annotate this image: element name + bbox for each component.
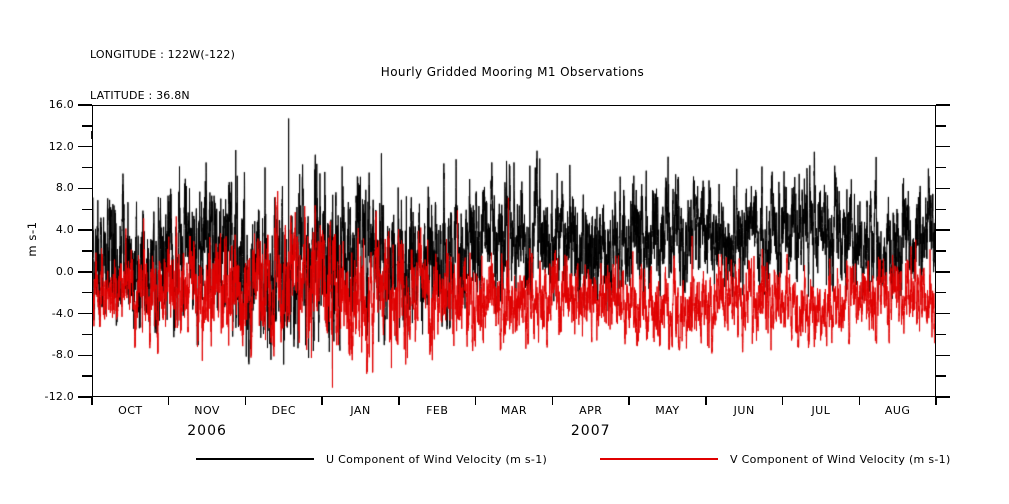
y-tick-minor-right [936, 292, 946, 293]
chart-title-text: Hourly Gridded Mooring M1 Observations [381, 65, 644, 79]
x-tick [552, 397, 553, 405]
x-tick-label-may: MAY [655, 404, 679, 417]
y-tick-major-right [936, 188, 950, 189]
y-tick-minor [82, 125, 92, 126]
x-tick-label-oct: OCT [118, 404, 143, 417]
plot-inner [93, 106, 935, 396]
y-tick-label: 0.0 [0, 265, 74, 278]
plot-area [92, 105, 936, 397]
x-tick-label-nov: NOV [194, 404, 220, 417]
y-tick-major-right [936, 271, 950, 272]
y-tick-major [78, 229, 92, 230]
x-tick-label-jan: JAN [350, 404, 370, 417]
y-tick-label: 8.0 [0, 181, 74, 194]
y-tick-major [78, 355, 92, 356]
y-tick-minor [82, 250, 92, 251]
y-tick-major-right [936, 355, 950, 356]
y-tick-minor-right [936, 125, 946, 126]
x-year-label-2007: 2007 [571, 423, 611, 439]
x-tick-label-aug: AUG [885, 404, 911, 417]
x-tick [705, 397, 706, 405]
y-tick-major [78, 188, 92, 189]
longitude-text: LONGITUDE : 122W(-122) [90, 48, 235, 62]
y-tick-major [78, 313, 92, 314]
y-tick-major-right [936, 313, 950, 314]
x-year-label-2006: 2006 [187, 423, 227, 439]
x-tick [475, 397, 476, 405]
y-tick-minor-right [936, 167, 946, 168]
x-tick-label-dec: DEC [272, 404, 297, 417]
x-tick [168, 397, 169, 405]
y-tick-minor-right [936, 250, 946, 251]
timeseries-canvas [93, 106, 936, 397]
y-tick-major [78, 271, 92, 272]
y-tick-label: -4.0 [0, 307, 74, 320]
y-tick-label: -8.0 [0, 348, 74, 361]
x-tick [91, 397, 92, 405]
x-tick [398, 397, 399, 405]
x-tick-label-jul: JUL [811, 404, 830, 417]
legend-label-u: U Component of Wind Velocity (m s-1) [326, 453, 547, 466]
y-tick-minor [82, 292, 92, 293]
y-tick-label: 4.0 [0, 223, 74, 236]
y-tick-minor [82, 375, 92, 376]
legend-entry-v[interactable]: V Component of Wind Velocity (m s-1) [600, 449, 951, 469]
y-tick-label: -12.0 [0, 390, 74, 403]
y-tick-major [78, 396, 92, 397]
y-tick-major-right [936, 229, 950, 230]
x-tick-label-apr: APR [579, 404, 602, 417]
y-tick-minor [82, 167, 92, 168]
chart-title: Hourly Gridded Mooring M1 Observations [0, 65, 1009, 79]
x-tick-label-jun: JUN [734, 404, 755, 417]
y-tick-minor-right [936, 209, 946, 210]
y-tick-minor-right [936, 375, 946, 376]
x-tick [245, 397, 246, 405]
x-tick [321, 397, 322, 405]
y-tick-minor [82, 334, 92, 335]
y-tick-label: 16.0 [0, 98, 74, 111]
legend-line-v-icon [600, 458, 718, 460]
x-tick-label-feb: FEB [426, 404, 448, 417]
y-tick-major-right [936, 396, 950, 397]
y-tick-major-right [936, 104, 950, 105]
legend-line-u-icon [196, 458, 314, 460]
x-tick [628, 397, 629, 405]
x-tick [859, 397, 860, 405]
legend-label-v: V Component of Wind Velocity (m s-1) [730, 453, 951, 466]
y-tick-major-right [936, 146, 950, 147]
y-tick-major [78, 146, 92, 147]
latitude-text: LATITUDE : 36.8N [90, 89, 235, 103]
y-tick-major [78, 104, 92, 105]
chart-legend: U Component of Wind Velocity (m s-1) V C… [0, 449, 1009, 473]
x-tick-label-mar: MAR [501, 404, 527, 417]
y-tick-label: 12.0 [0, 140, 74, 153]
x-tick [782, 397, 783, 405]
y-tick-minor [82, 209, 92, 210]
y-tick-minor-right [936, 334, 946, 335]
x-tick [935, 397, 936, 405]
legend-entry-u[interactable]: U Component of Wind Velocity (m s-1) [196, 449, 547, 469]
